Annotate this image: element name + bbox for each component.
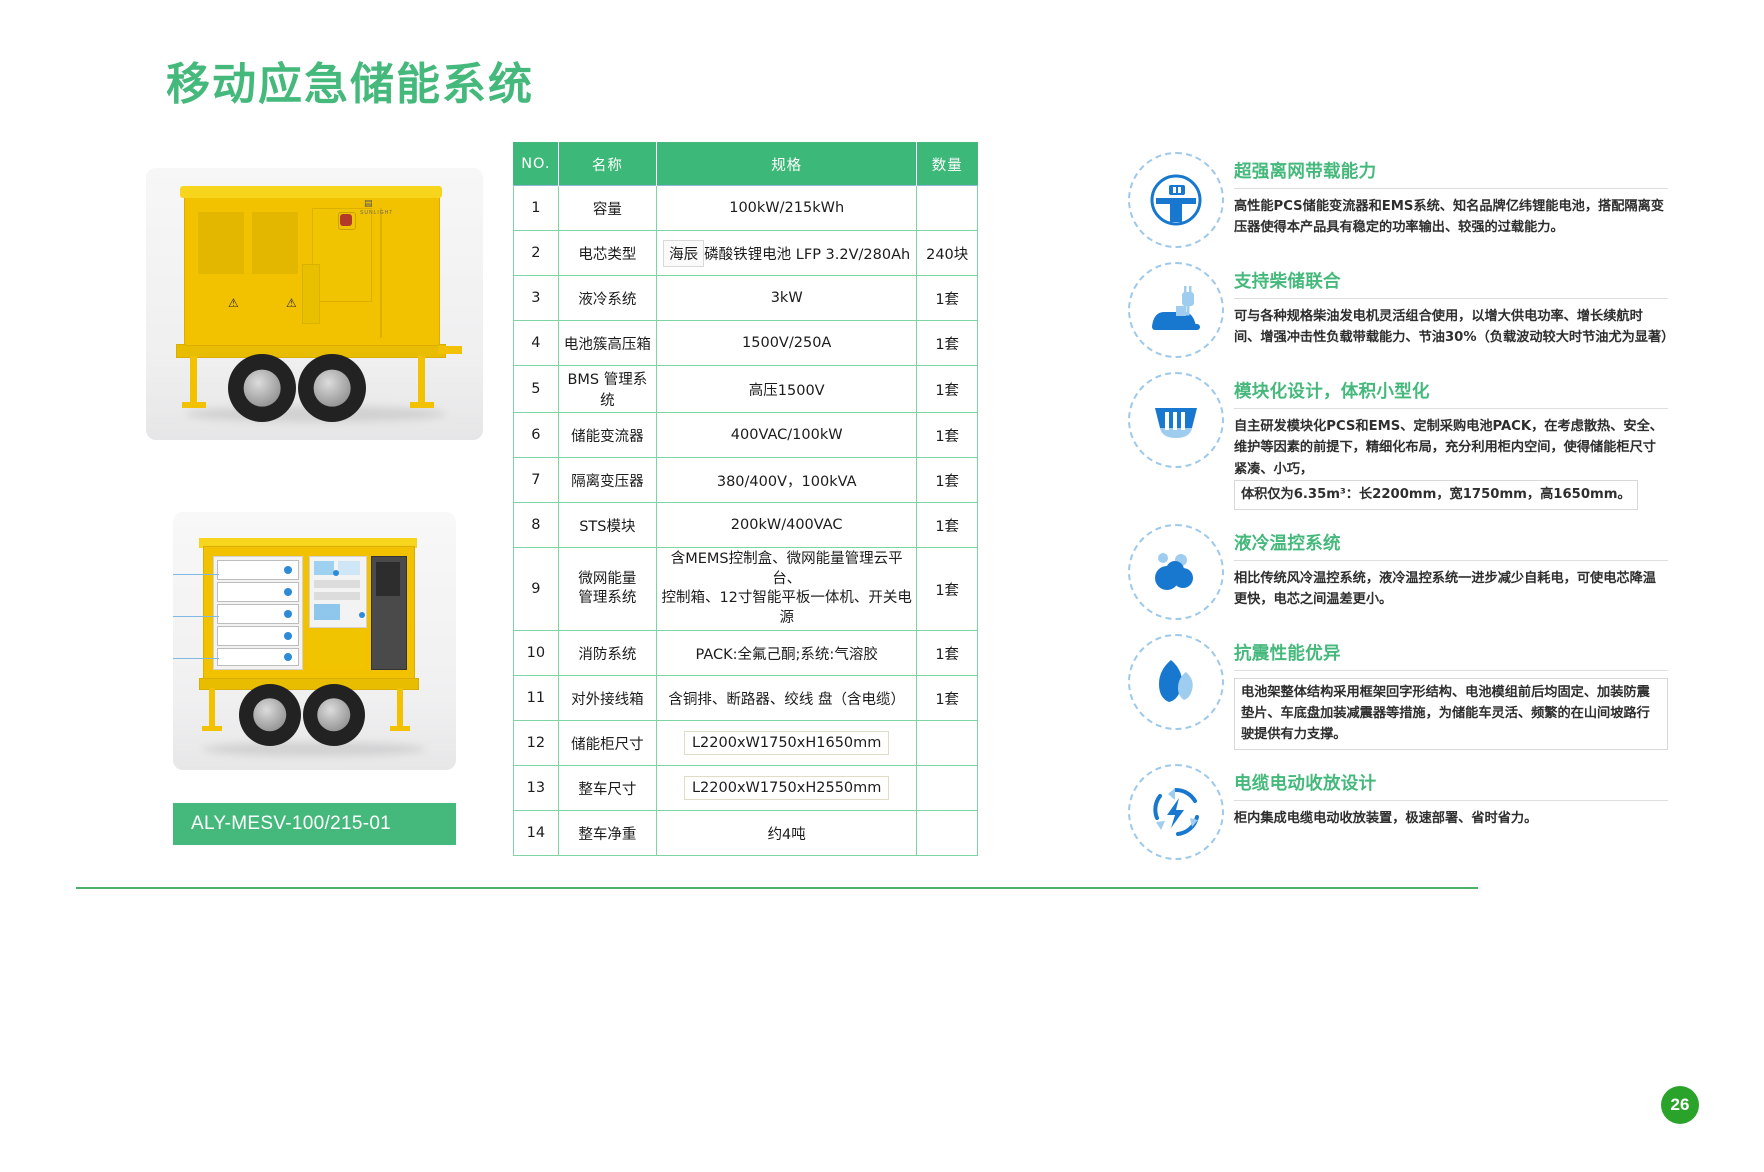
cell-name: BMS 管理系统 — [558, 366, 656, 413]
cell-spec: 含铜排、断路器、绞线 盘（含电缆） — [656, 676, 916, 721]
column-header-name: 名称 — [558, 143, 656, 186]
cell-spec: 200kW/400VAC — [656, 503, 916, 548]
liquid-cooling-icon — [1128, 524, 1224, 620]
feature-list: 超强离网带载能力 高性能PCS储能变流器和EMS系统、知名品牌亿纬锂能电池，搭配… — [1128, 152, 1668, 874]
feature-text: 可与各种规格柴油发电机灵活组合使用，以增大供电功率、增长续航时间、增强冲击性负载… — [1234, 306, 1668, 349]
table-row: 12储能柜尺寸L2200xW1750xH1650mm — [514, 721, 978, 766]
model-number-badge: ALY-MESV-100/215-01 — [173, 803, 456, 845]
table-row: 4电池簇高压箱1500V/250A1套 — [514, 321, 978, 366]
shock-leaf-icon — [1128, 634, 1224, 730]
table-row: 14整车净重约4吨 — [514, 811, 978, 856]
cell-spec: PACK:全氟己酮;系统:气溶胶 — [656, 631, 916, 676]
cell-no: 6 — [514, 413, 559, 458]
cell-no: 10 — [514, 631, 559, 676]
feature-title: 模块化设计，体积小型化 — [1234, 378, 1668, 403]
feature-divider — [1234, 560, 1668, 561]
feature-text: 柜内集成电缆电动收放装置，极速部署、省时省力。 — [1234, 808, 1668, 829]
feature-title: 支持柴储联合 — [1234, 268, 1668, 293]
column-header-no: NO. — [514, 143, 559, 186]
footer-divider — [76, 887, 1478, 889]
feature-title: 电缆电动收放设计 — [1234, 770, 1668, 795]
feature-title: 超强离网带载能力 — [1234, 158, 1668, 183]
cell-name: 消防系统 — [558, 631, 656, 676]
cell-no: 2 — [514, 231, 559, 276]
feature-divider — [1234, 298, 1668, 299]
cell-spec: 约4吨 — [656, 811, 916, 856]
cell-no: 13 — [514, 766, 559, 811]
feature-item: 抗震性能优异 电池架整体结构采用框架回字形结构、电池模组前后均固定、加装防震垫片… — [1128, 634, 1668, 750]
modular-cabinet-icon — [1128, 372, 1224, 468]
table-row: 7隔离变压器380/400V，100kVA1套 — [514, 458, 978, 503]
cell-name: 电芯类型 — [558, 231, 656, 276]
cell-spec: L2200xW1750xH1650mm — [656, 721, 916, 766]
product-photo-exterior: ▤ SUNLIGHT ⚠ ⚠ — [146, 168, 483, 440]
cell-no: 7 — [514, 458, 559, 503]
page-title: 移动应急储能系统 — [166, 48, 534, 112]
cell-spec: 海辰磷酸铁锂电池 LFP 3.2V/280Ah — [656, 231, 916, 276]
cell-no: 11 — [514, 676, 559, 721]
cell-qty: 1套 — [917, 413, 978, 458]
table-row: 3液冷系统3kW1套 — [514, 276, 978, 321]
table-row: 5BMS 管理系统高压1500V1套 — [514, 366, 978, 413]
column-header-qty: 数量 — [917, 143, 978, 186]
column-header-spec: 规格 — [656, 143, 916, 186]
table-header-row: NO. 名称 规格 数量 — [514, 143, 978, 186]
cell-spec: 含MEMS控制盒、微网能量管理云平台、控制箱、12寸智能平板一体机、开关电源 — [656, 548, 916, 631]
cell-no: 4 — [514, 321, 559, 366]
cell-name: 整车尺寸 — [558, 766, 656, 811]
cell-qty — [917, 811, 978, 856]
feature-title: 液冷温控系统 — [1234, 530, 1668, 555]
ev-charging-car-icon — [1128, 262, 1224, 358]
cell-name: 微网能量管理系统 — [558, 548, 656, 631]
cell-spec: 100kW/215kWh — [656, 186, 916, 231]
cell-name: STS模块 — [558, 503, 656, 548]
feature-text: 相比传统风冷温控系统，液冷温控系统一进步减少自耗电，可使电芯降温更快，电芯之间温… — [1234, 568, 1668, 611]
cell-spec: 380/400V，100kVA — [656, 458, 916, 503]
feature-divider — [1234, 188, 1668, 189]
cell-spec: 高压1500V — [656, 366, 916, 413]
page-number-badge: 26 — [1661, 1086, 1699, 1124]
feature-text-highlight: 电池架整体结构采用框架回字形结构、电池模组前后均固定、加装防震垫片、车底盘加装减… — [1234, 678, 1668, 750]
feature-item: 超强离网带载能力 高性能PCS储能变流器和EMS系统、知名品牌亿纬锂能电池，搭配… — [1128, 152, 1668, 248]
cell-no: 12 — [514, 721, 559, 766]
cell-name: 液冷系统 — [558, 276, 656, 321]
feature-item: 模块化设计，体积小型化 自主研发模块化PCS和EMS、定制采购电池PACK，在考… — [1128, 372, 1668, 510]
cell-name: 整车净重 — [558, 811, 656, 856]
feature-divider — [1234, 408, 1668, 409]
table-row: 10消防系统PACK:全氟己酮;系统:气溶胶1套 — [514, 631, 978, 676]
cell-name: 储能变流器 — [558, 413, 656, 458]
cell-spec: L2200xW1750xH2550mm — [656, 766, 916, 811]
battery-road-icon — [1128, 152, 1224, 248]
cell-no: 3 — [514, 276, 559, 321]
table-row: 13整车尺寸L2200xW1750xH2550mm — [514, 766, 978, 811]
table-row: 11对外接线箱含铜排、断路器、绞线 盘（含电缆）1套 — [514, 676, 978, 721]
cell-qty: 1套 — [917, 676, 978, 721]
cell-qty: 1套 — [917, 503, 978, 548]
cell-no: 14 — [514, 811, 559, 856]
cell-spec: 3kW — [656, 276, 916, 321]
cell-no: 5 — [514, 366, 559, 413]
slide-page: 移动应急储能系统 ▤ SUNLIGHT ⚠ ⚠ — [0, 0, 1764, 1172]
cell-name: 容量 — [558, 186, 656, 231]
feature-item: 液冷温控系统 相比传统风冷温控系统，液冷温控系统一进步减少自耗电，可使电芯降温更… — [1128, 524, 1668, 620]
feature-text-highlight: 体积仅为6.35m³：长2200mm，宽1750mm，高1650mm。 — [1234, 480, 1638, 509]
cell-qty: 1套 — [917, 321, 978, 366]
feature-text: 自主研发模块化PCS和EMS、定制采购电池PACK，在考虑散热、安全、维护等因素… — [1234, 419, 1663, 477]
cell-no: 8 — [514, 503, 559, 548]
feature-divider — [1234, 670, 1668, 671]
cell-qty: 1套 — [917, 366, 978, 413]
cell-no: 1 — [514, 186, 559, 231]
cell-qty: 240块 — [917, 231, 978, 276]
cell-name: 电池簇高压箱 — [558, 321, 656, 366]
cell-qty: 1套 — [917, 276, 978, 321]
feature-divider — [1234, 800, 1668, 801]
cell-name: 隔离变压器 — [558, 458, 656, 503]
cell-name: 对外接线箱 — [558, 676, 656, 721]
cell-spec: 400VAC/100kW — [656, 413, 916, 458]
table-row: 8STS模块200kW/400VAC1套 — [514, 503, 978, 548]
table-row: 1容量100kW/215kWh — [514, 186, 978, 231]
cable-reel-bolt-icon — [1128, 764, 1224, 860]
table-row: 2电芯类型海辰磷酸铁锂电池 LFP 3.2V/280Ah240块 — [514, 231, 978, 276]
specification-table: NO. 名称 规格 数量 1容量100kW/215kWh2电芯类型海辰磷酸铁锂电… — [513, 142, 978, 856]
cell-qty — [917, 766, 978, 811]
feature-item: 电缆电动收放设计 柜内集成电缆电动收放装置，极速部署、省时省力。 — [1128, 764, 1668, 860]
feature-item: 支持柴储联合 可与各种规格柴油发电机灵活组合使用，以增大供电功率、增长续航时间、… — [1128, 262, 1668, 358]
table-row: 9微网能量管理系统含MEMS控制盒、微网能量管理云平台、控制箱、12寸智能平板一… — [514, 548, 978, 631]
cell-qty — [917, 721, 978, 766]
table-row: 6储能变流器400VAC/100kW1套 — [514, 413, 978, 458]
cell-no: 9 — [514, 548, 559, 631]
cell-spec: 1500V/250A — [656, 321, 916, 366]
product-photo-interior — [173, 512, 456, 770]
cell-qty — [917, 186, 978, 231]
feature-text: 高性能PCS储能变流器和EMS系统、知名品牌亿纬锂能电池，搭配隔离变压器使得本产… — [1234, 196, 1668, 239]
feature-title: 抗震性能优异 — [1234, 640, 1668, 665]
cell-name: 储能柜尺寸 — [558, 721, 656, 766]
cell-qty: 1套 — [917, 548, 978, 631]
cell-qty: 1套 — [917, 458, 978, 503]
cell-qty: 1套 — [917, 631, 978, 676]
